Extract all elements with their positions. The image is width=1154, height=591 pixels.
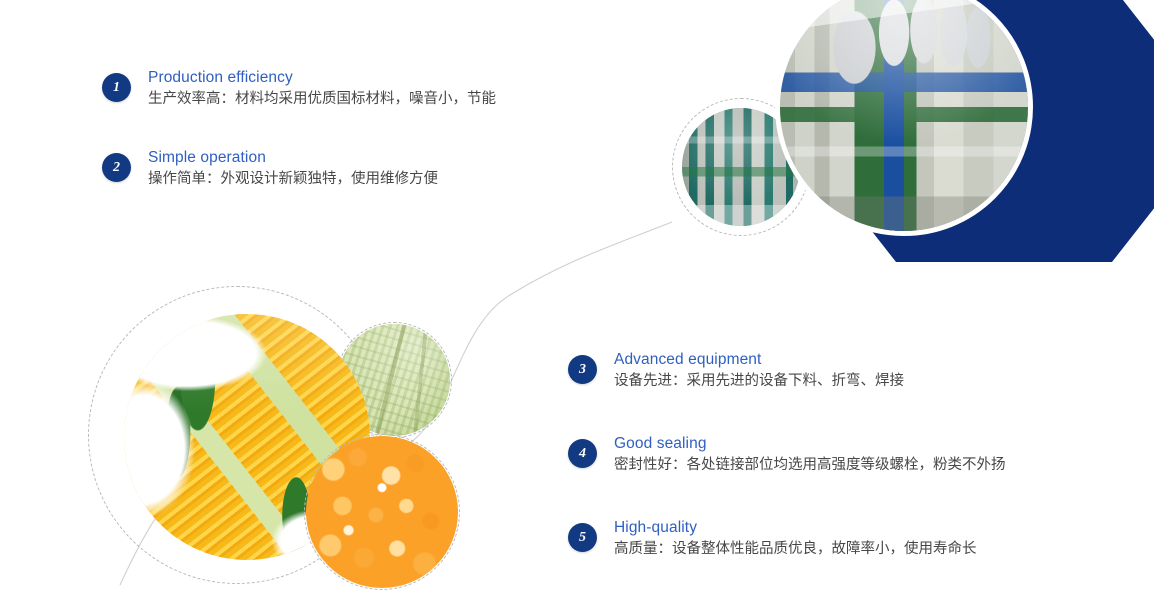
feature-title-4: Good sealing bbox=[614, 434, 1108, 454]
feature-list-bottom: 3 Advanced equipment 设备先进：采用先进的设备下料、折弯、焊… bbox=[568, 350, 1108, 591]
feature-badge-1: 1 bbox=[102, 73, 131, 102]
feature-desc-1: 生产效率高：材料均采用优质国标材料，噪音小，节能 bbox=[148, 88, 572, 110]
feature-item-1: 1 Production efficiency 生产效率高：材料均采用优质国标材… bbox=[102, 68, 572, 120]
feature-desc-5: 高质量：设备整体性能品质优良，故障率小，使用寿命长 bbox=[614, 538, 1108, 560]
feature-title-3: Advanced equipment bbox=[614, 350, 1108, 370]
corn-kernels-photo bbox=[306, 436, 458, 588]
feature-badge-5: 5 bbox=[568, 523, 597, 552]
feature-item-5: 5 High-quality 高质量：设备整体性能品质优良，故障率小，使用寿命长 bbox=[568, 518, 1108, 570]
feature-badge-2: 2 bbox=[102, 153, 131, 182]
feature-title-2: Simple operation bbox=[148, 148, 572, 168]
feature-desc-3: 设备先进：采用先进的设备下料、折弯、焊接 bbox=[614, 370, 1108, 392]
machinery-image-cluster bbox=[660, 0, 1154, 276]
feature-item-3: 3 Advanced equipment 设备先进：采用先进的设备下料、折弯、焊… bbox=[568, 350, 1108, 402]
feature-title-1: Production efficiency bbox=[148, 68, 572, 88]
feature-desc-4: 密封性好：各处链接部位均选用高强度等级螺栓，粉类不外扬 bbox=[614, 454, 1108, 476]
infographic-canvas: 1 Production efficiency 生产效率高：材料均采用优质国标材… bbox=[0, 0, 1154, 591]
machinery-main-photo bbox=[775, 0, 1033, 236]
feature-desc-2: 操作简单：外观设计新颖独特，使用维修方便 bbox=[148, 168, 572, 190]
feature-badge-3: 3 bbox=[568, 355, 597, 384]
corn-image-cluster bbox=[88, 286, 488, 591]
feature-item-2: 2 Simple operation 操作简单：外观设计新颖独特，使用维修方便 bbox=[102, 148, 572, 200]
feature-badge-4: 4 bbox=[568, 439, 597, 468]
feature-item-4: 4 Good sealing 密封性好：各处链接部位均选用高强度等级螺栓，粉类不… bbox=[568, 434, 1108, 486]
feature-title-5: High-quality bbox=[614, 518, 1108, 538]
feature-list-top: 1 Production efficiency 生产效率高：材料均采用优质国标材… bbox=[102, 68, 572, 228]
